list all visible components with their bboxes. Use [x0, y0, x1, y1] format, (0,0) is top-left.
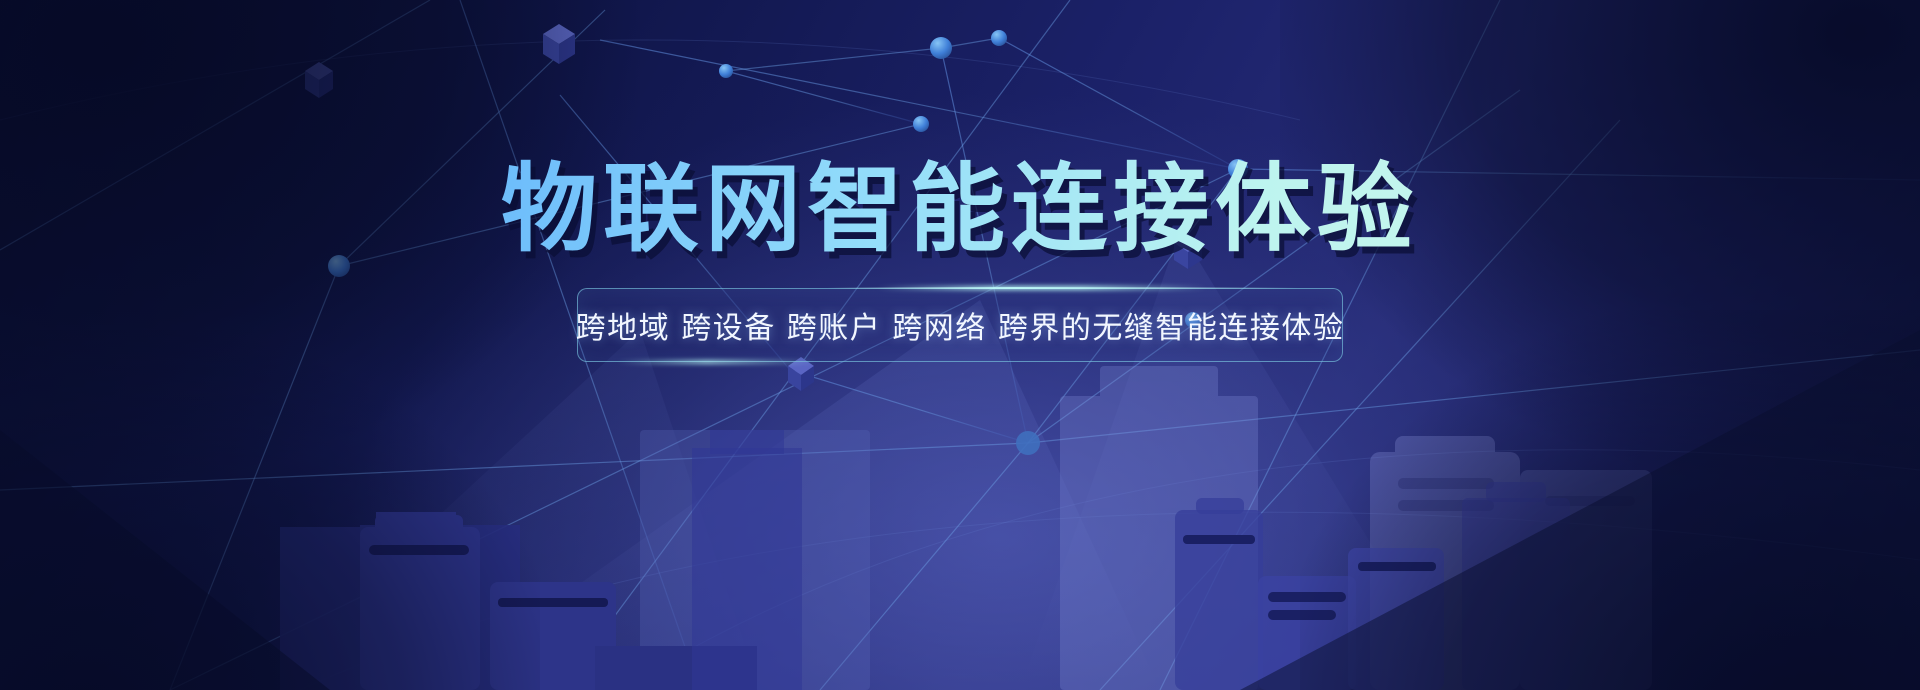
banner-subtitle-container: 跨地域 跨设备 跨账户 跨网络 跨界的无缝智能连接体验 — [577, 288, 1343, 362]
banner-subtitle: 跨地域 跨设备 跨账户 跨网络 跨界的无缝智能连接体验 — [576, 303, 1345, 347]
node-center-low — [1016, 431, 1040, 455]
banner-content: 物联网智能连接体验 跨地域 跨设备 跨账户 跨网络 跨界的无缝智能连接体验 — [0, 0, 1920, 362]
subtitle-box: 跨地域 跨设备 跨账户 跨网络 跨界的无缝智能连接体验 — [577, 288, 1343, 362]
banner-title: 物联网智能连接体验 — [0, 0, 1920, 262]
hero-banner: 物联网智能连接体验 跨地域 跨设备 跨账户 跨网络 跨界的无缝智能连接体验 — [0, 0, 1920, 690]
cube-lower-center — [788, 357, 814, 391]
